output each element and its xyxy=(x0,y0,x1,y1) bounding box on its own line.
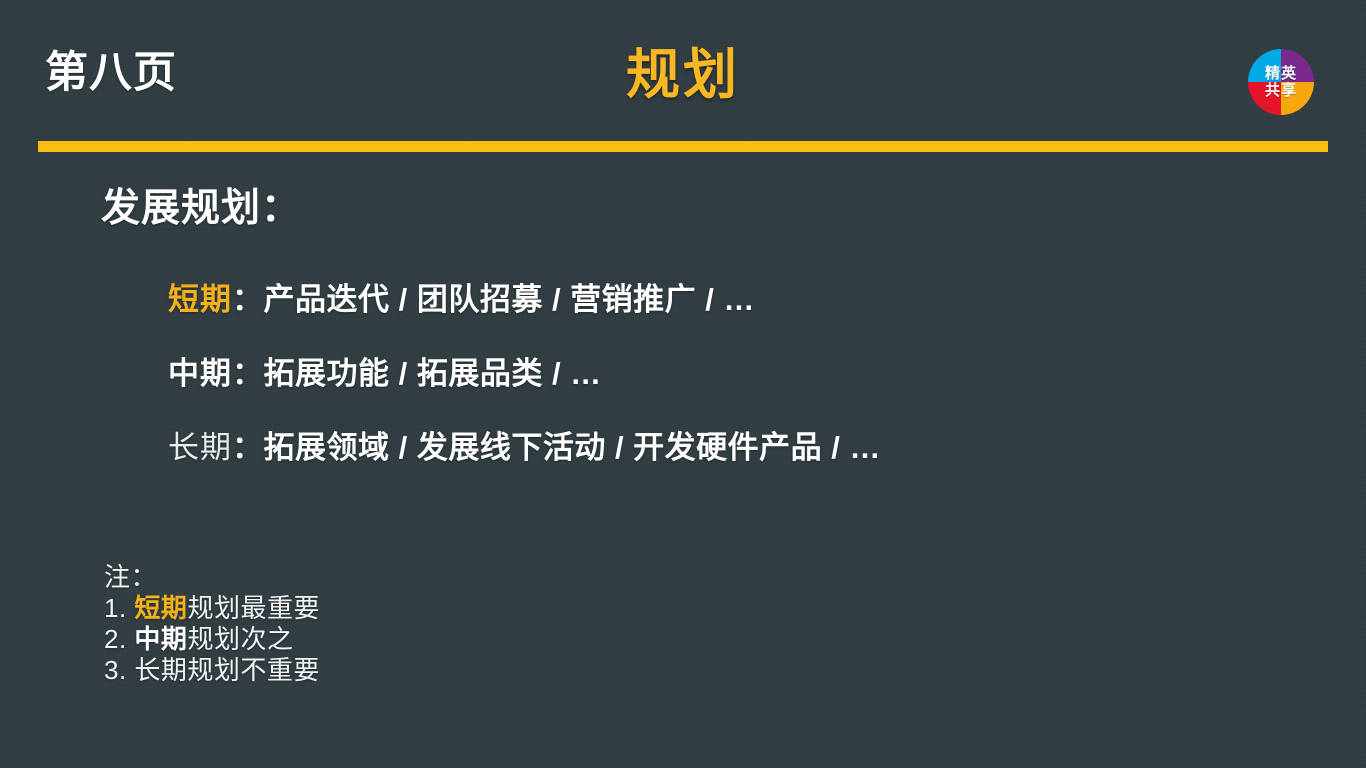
header-divider-bar xyxy=(38,141,1328,152)
note-text-3: 长期规划不重要 xyxy=(134,655,320,685)
slide-title: 规划 xyxy=(0,48,1366,102)
note-item-2: 2. 中期规划次之 xyxy=(104,624,320,655)
brand-logo: 精英 共享 xyxy=(1248,49,1314,115)
plan-term-short: 短期 xyxy=(168,281,232,319)
note-item-1: 1. 短期规划最重要 xyxy=(104,593,320,624)
logo-text: 精英 共享 xyxy=(1248,49,1314,115)
notes-block: 注： 1. 短期规划最重要 2. 中期规划次之 3. 长期规划不重要 xyxy=(104,562,320,686)
plan-body-short: 产品迭代 / 团队招募 / 营销推广 / … xyxy=(264,281,756,319)
plan-separator-short: ： xyxy=(232,281,264,319)
note-text-2: 规划次之 xyxy=(187,624,293,654)
plan-term-mid: 中期 xyxy=(168,355,232,393)
plan-body-mid: 拓展功能 / 拓展品类 / … xyxy=(264,355,602,393)
logo-text-line2: 共享 xyxy=(1265,82,1297,99)
presentation-slide: 第八页 规划 精英 共享 发展规划： 短期 ： 产品迭代 / 团队招募 / 营销… xyxy=(0,0,1366,768)
plan-row-mid-term: 中期 ： 拓展功能 / 拓展品类 / … xyxy=(168,355,1268,429)
note-number-2: 2. xyxy=(104,624,127,655)
plan-separator-mid: ： xyxy=(232,355,264,393)
note-item-3: 3. 长期规划不重要 xyxy=(104,655,320,686)
plan-body-long: 拓展领域 / 发展线下活动 / 开发硬件产品 / … xyxy=(264,429,882,467)
plan-term-long: 长期 xyxy=(168,429,232,467)
note-number-3: 3. xyxy=(104,655,127,686)
note-number-1: 1. xyxy=(104,593,127,624)
plan-row-short-term: 短期 ： 产品迭代 / 团队招募 / 营销推广 / … xyxy=(168,281,1268,355)
section-heading: 发展规划： xyxy=(101,188,301,231)
note-text-1: 规划最重要 xyxy=(187,593,320,623)
development-plan-list: 短期 ： 产品迭代 / 团队招募 / 营销推广 / … 中期 ： 拓展功能 / … xyxy=(168,281,1268,503)
note-emphasis-1: 短期 xyxy=(134,593,187,623)
notes-title: 注： xyxy=(104,562,320,593)
plan-row-long-term: 长期 ： 拓展领域 / 发展线下活动 / 开发硬件产品 / … xyxy=(168,429,1268,503)
note-emphasis-2: 中期 xyxy=(134,624,187,654)
plan-separator-long: ： xyxy=(232,429,264,467)
logo-text-line1: 精英 xyxy=(1265,65,1297,82)
